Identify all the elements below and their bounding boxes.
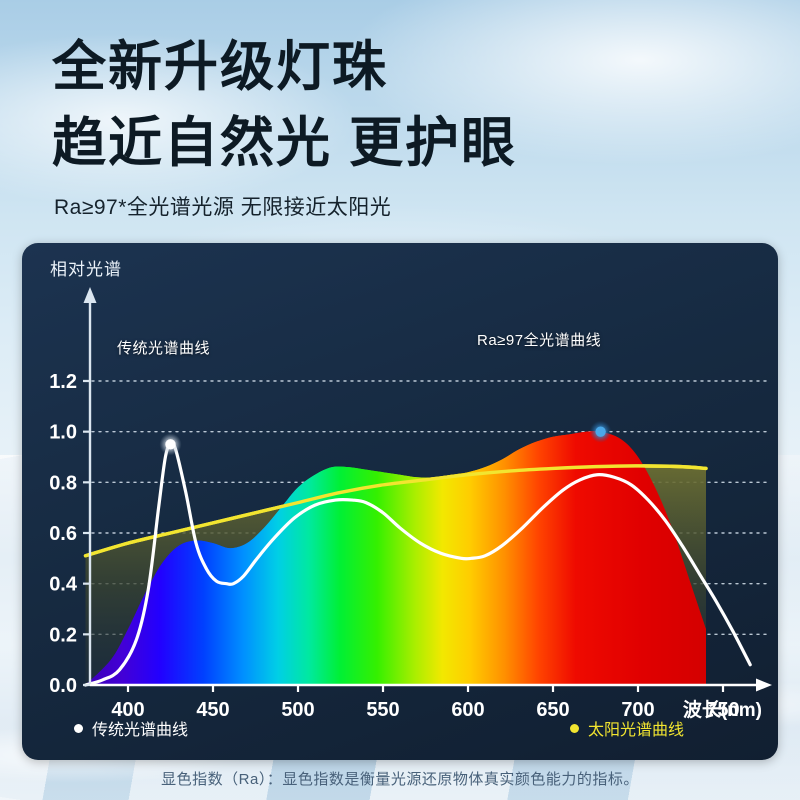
legend-item-sun: 太阳光谱曲线 <box>570 716 684 740</box>
headline-line-2: 趋近自然光 更护眼 <box>52 110 517 176</box>
headline-line-1: 全新升级灯珠 <box>52 34 517 100</box>
white-dot-icon <box>74 724 83 733</box>
yellow-dot-icon <box>570 724 579 733</box>
chart-legend: 传统光谱曲线 太阳光谱曲线 <box>22 716 778 744</box>
svg-text:0.4: 0.4 <box>49 574 78 596</box>
svg-text:0.2: 0.2 <box>49 624 77 646</box>
spectrum-chart-panel: 相对光谱 <box>22 243 778 760</box>
footnote-text: 显色指数（Ra）：显色指数是衡量光源还原物体真实颜色能力的指标。 <box>0 768 800 789</box>
annotation-traditional-curve: 传统光谱曲线 <box>117 337 210 358</box>
headline-subtitle: Ra≥97*全光谱光源 无限接近太阳光 <box>54 191 391 221</box>
svg-text:0.8: 0.8 <box>49 472 77 494</box>
svg-text:1.0: 1.0 <box>49 422 77 444</box>
annotation-fullspectrum-curve: Ra≥97全光谱曲线 <box>477 329 601 350</box>
legend-label-traditional: 传统光谱曲线 <box>92 716 188 740</box>
spectrum-plot: 0.00.20.40.60.81.01.24004505005506006507… <box>22 243 778 760</box>
headline-block: 全新升级灯珠 趋近自然光 更护眼 <box>52 34 517 176</box>
svg-text:1.2: 1.2 <box>49 371 77 393</box>
legend-item-traditional: 传统光谱曲线 <box>74 716 188 740</box>
legend-label-sun: 太阳光谱曲线 <box>588 716 684 740</box>
svg-text:0.0: 0.0 <box>49 675 77 697</box>
svg-text:0.6: 0.6 <box>49 523 77 545</box>
